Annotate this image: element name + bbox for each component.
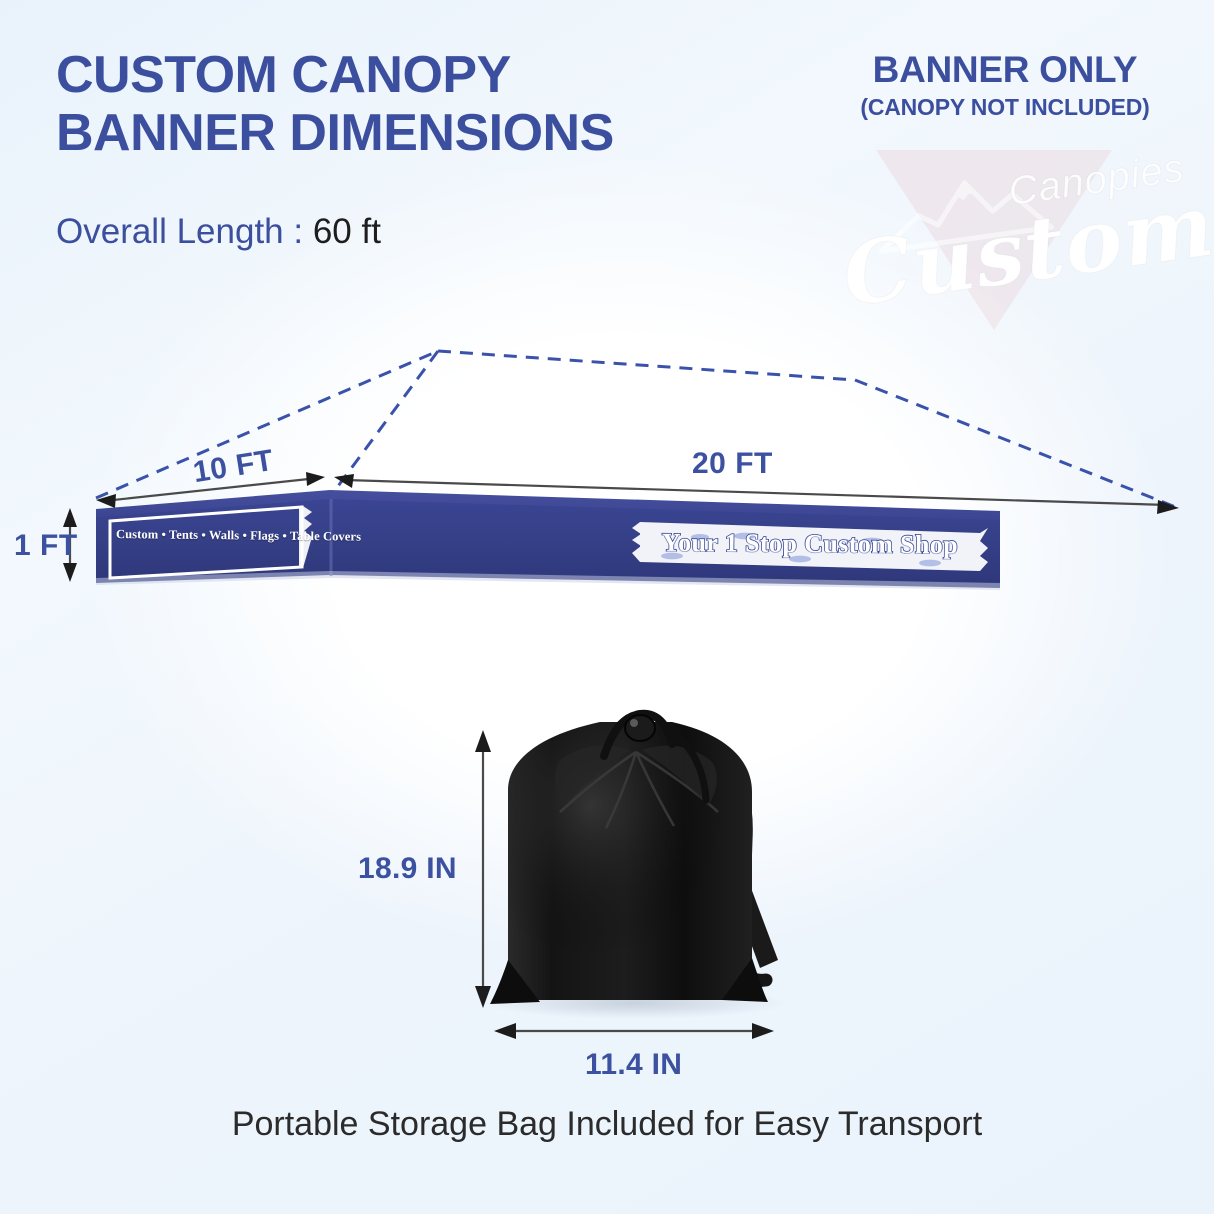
arrowhead-top-1ft: [63, 508, 77, 527]
label-bag-width: 11.4 IN: [585, 1048, 682, 1082]
infographic-page: CUSTOM CANOPY BANNER DIMENSIONS Overall …: [0, 0, 1214, 1214]
arrowhead-right-bag-width: [752, 1023, 774, 1039]
banner-left-print-text: Custom • Tents • Walls • Flags • Table C…: [116, 527, 292, 544]
bag-cord-toggle: [625, 715, 655, 741]
arrowhead-bottom-1ft: [63, 563, 77, 582]
arrowhead-right-10ft: [306, 472, 325, 486]
bag-toggle-highlight: [630, 719, 638, 727]
label-20ft: 20 FT: [692, 447, 773, 481]
arrowhead-right-20ft: [1157, 500, 1179, 514]
bag-body-highlight: [508, 722, 752, 1000]
arrowhead-left-bag-width: [494, 1023, 516, 1039]
banner-right-print-text: Your 1 Stop Custom Shop: [645, 528, 975, 561]
arrowhead-top-bag-height: [475, 730, 491, 752]
arrowhead-left-20ft: [334, 474, 354, 488]
bag-caption: Portable Storage Bag Included for Easy T…: [0, 1105, 1214, 1144]
label-bag-height: 18.9 IN: [358, 852, 457, 886]
label-1ft: 1 FT: [14, 529, 78, 563]
canopy-diagram: [0, 0, 1214, 1214]
